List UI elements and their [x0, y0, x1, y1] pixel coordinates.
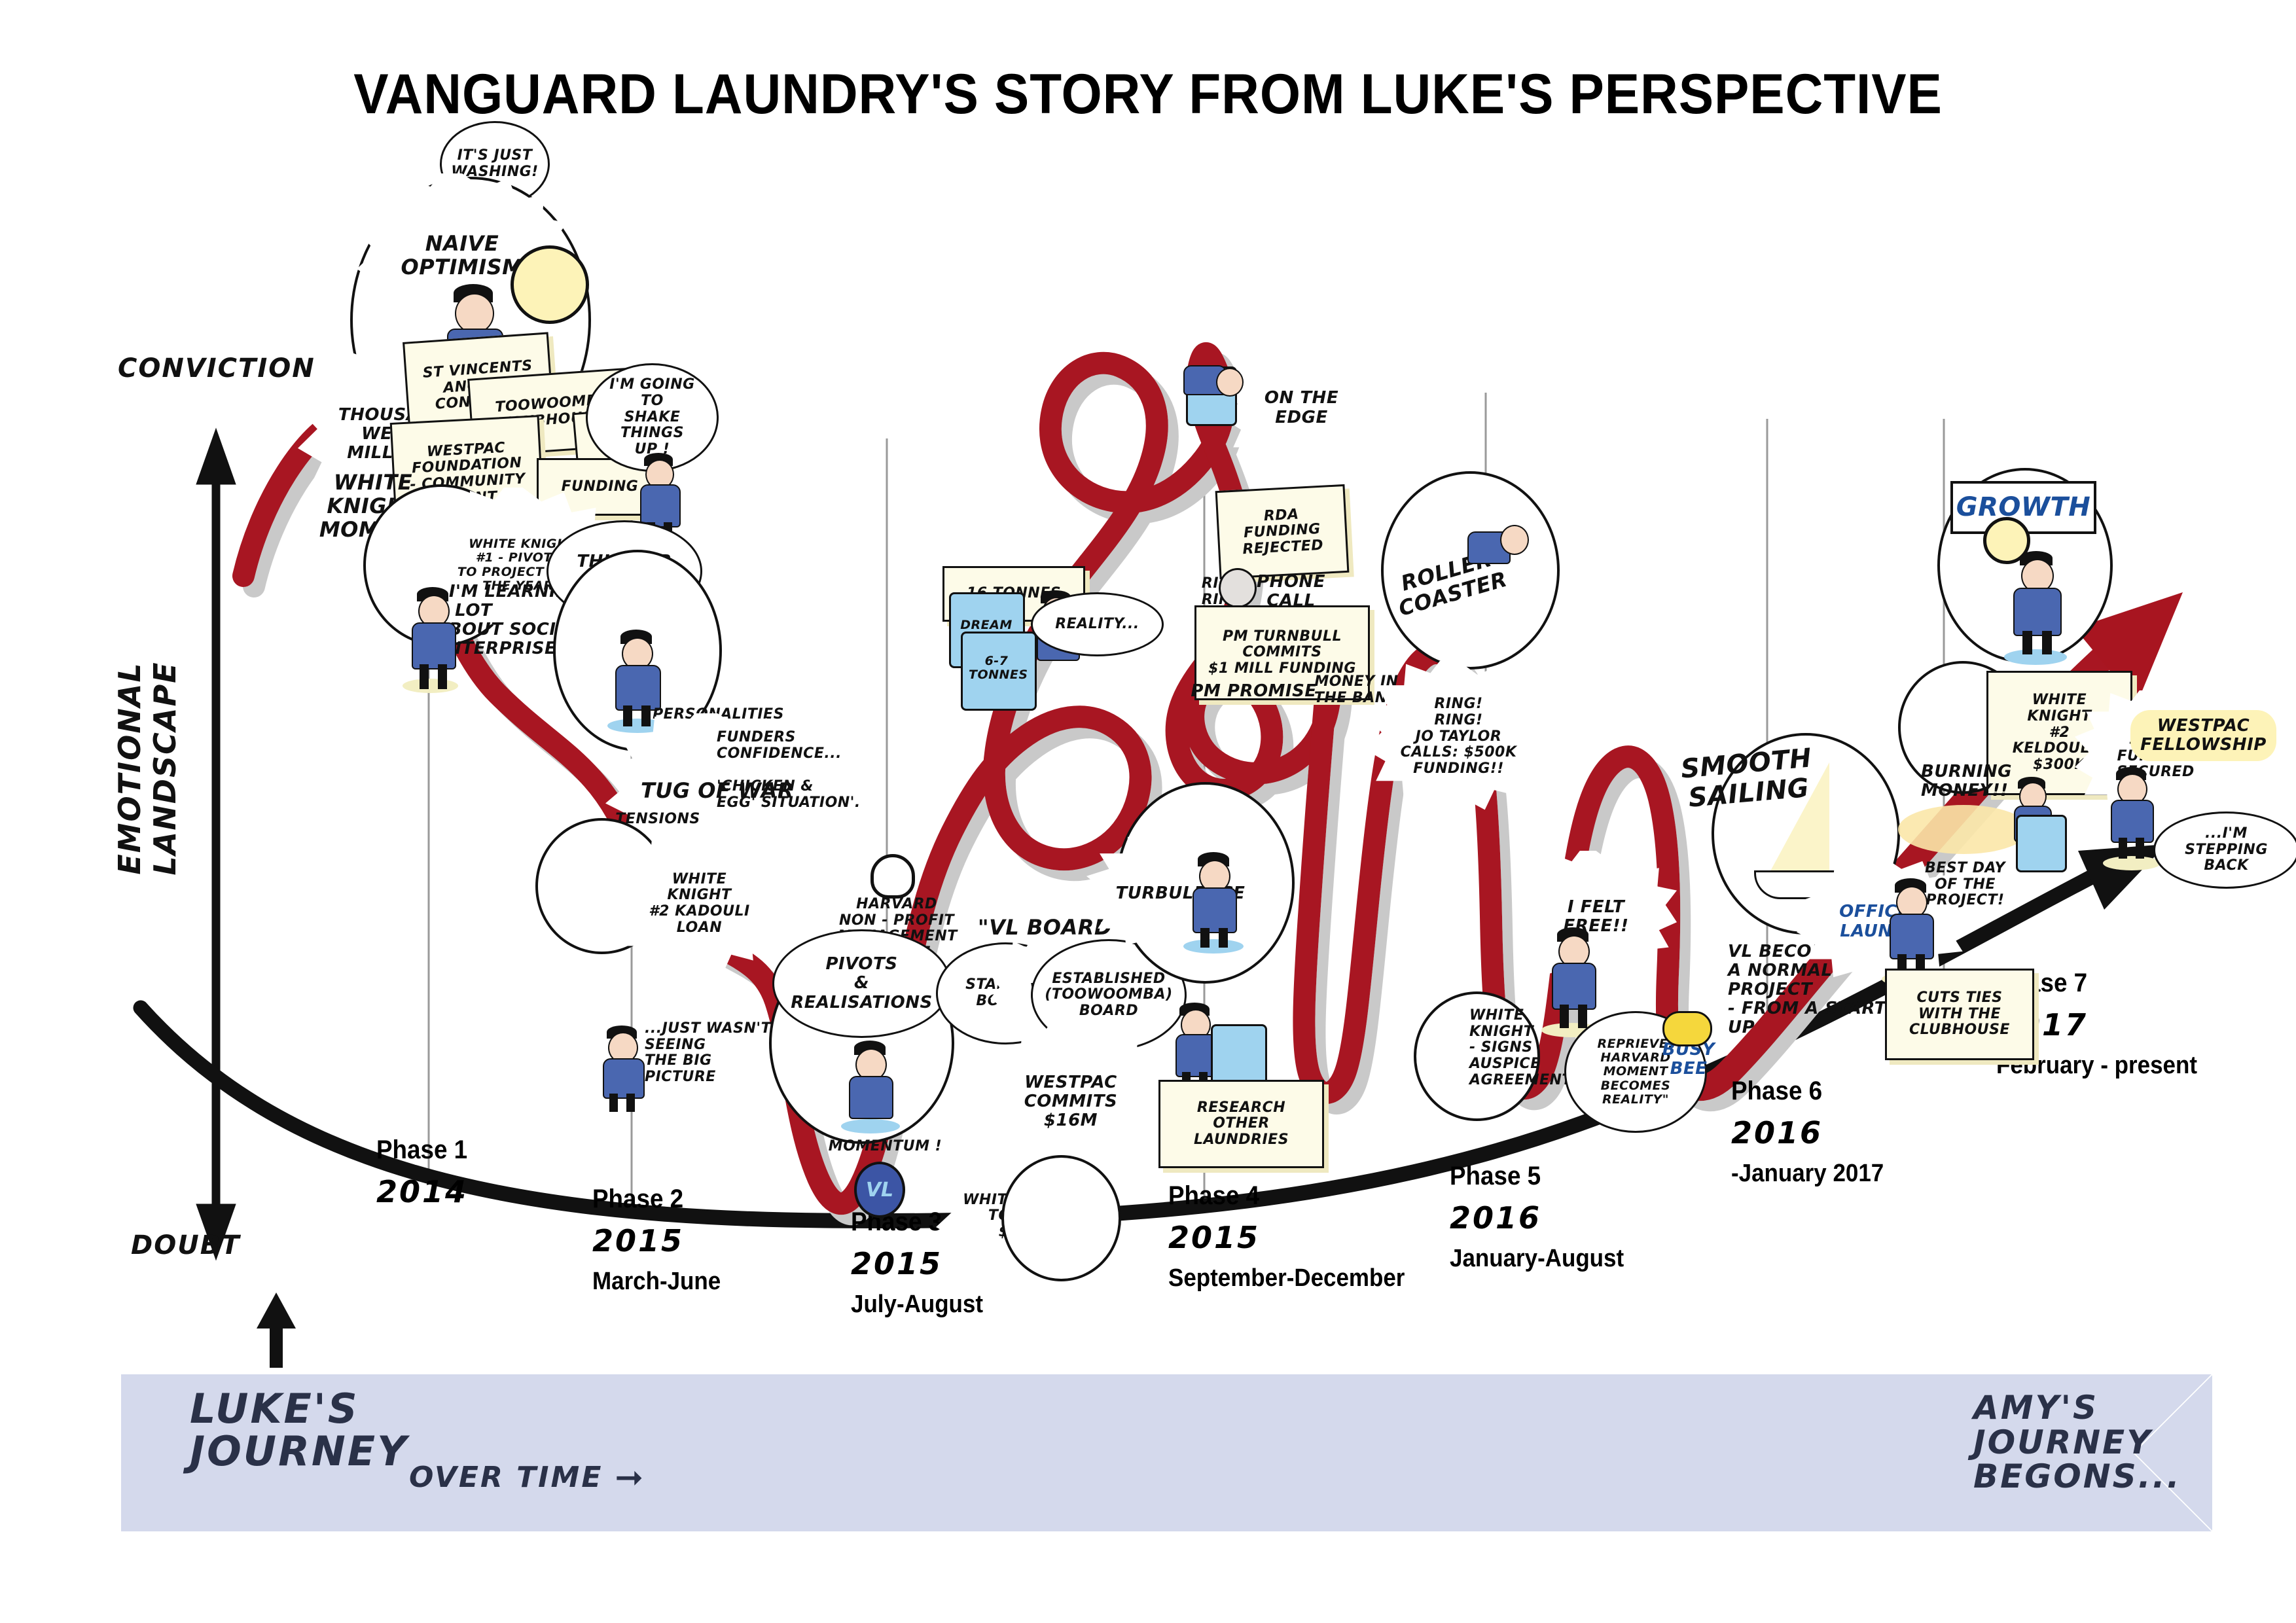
banner-luke-line2: JOURNEY	[190, 1430, 408, 1472]
axis-label-doubt: DOUBT	[131, 1230, 240, 1260]
washing-machine-burning-icon	[2016, 815, 2067, 872]
page-title: VANGUARD LAUNDRY'S STORY FROM LUKE'S PER…	[81, 62, 2215, 127]
annotation-cuts-ties-clubhouse: CUTS TIESWITH THECLUBHOUSE	[1885, 969, 2034, 1060]
banner-luke-line1: LUKE'S	[190, 1387, 408, 1430]
annotation-funders-confidence: FUNDERSCONFIDENCE...	[717, 730, 854, 762]
vl-badge-icon: VL	[854, 1162, 905, 1218]
bee-icon	[1662, 1011, 1712, 1046]
banner-luke-journey: LUKE'S JOURNEY	[190, 1387, 408, 1472]
banner-over-time: OVER TIME ➞	[409, 1463, 645, 1493]
figure-luke-coaster	[1460, 517, 1541, 582]
journey-banner	[121, 1374, 2212, 1531]
annotation-stepping-back: ...I'M STEPPINGBACK	[2153, 811, 2296, 889]
banner-amy-line3: BEGONS...	[1973, 1459, 2181, 1494]
phase-label-5: Phase 5 2016 January-August	[1450, 1162, 1639, 1273]
figure-luke-slumped	[586, 1024, 658, 1122]
figure-luke-tumbling	[828, 1027, 913, 1132]
annotation-pivots-realisations: PIVOTS&REALISATIONS	[772, 929, 951, 1038]
figure-luke-growth	[1990, 550, 2081, 664]
pm-turnbull-head-icon	[1219, 568, 1257, 608]
annotation-research-laundries: RESEARCHOTHERLAUNDRIES	[1158, 1080, 1324, 1168]
phase-label-1: Phase 1 2014	[376, 1135, 475, 1209]
banner-amy-journey: AMY'S JOURNEY BEGONS...	[1973, 1391, 2181, 1494]
banner-over-time-label: OVER TIME	[409, 1463, 603, 1493]
annotation-pm-promise: PM PROMISE	[1190, 682, 1318, 701]
start-marker-arrow	[257, 1293, 296, 1368]
annotation-dream: DREAM	[960, 618, 1013, 632]
annotation-momentum: MOMENTUM !	[828, 1139, 942, 1155]
annotation-westpac-fellowship: WESTPACFELLOWSHIP	[2130, 710, 2276, 761]
phase-label-6: Phase 6 2016 -January 2017	[1731, 1077, 1897, 1188]
annotation-rda-rejected: RDAFUNDINGREJECTED	[1215, 484, 1350, 579]
annotation-six-seven-tonnes: 6-7TONNES	[969, 654, 1024, 683]
banner-amy-line2: JOURNEY	[1973, 1425, 2181, 1460]
axis-label-conviction: CONVICTION	[118, 353, 315, 383]
phase-label-4: Phase 4 2015 September-December	[1168, 1181, 1426, 1293]
figure-luke-on-edge	[1172, 353, 1244, 406]
figure-luke-juggling	[1172, 844, 1257, 952]
figure-luke-learning	[389, 586, 475, 694]
sailboat-sail-icon	[1767, 762, 1829, 877]
annotation-reality: REALITY...	[1031, 592, 1164, 656]
annotation-chicken-egg: 'CHICKEN &EGG' SITUATION'.	[717, 779, 861, 811]
right-arrow-icon: ➞	[615, 1468, 645, 1488]
sun-icon	[511, 245, 589, 324]
phase-label-2: Phase 2 2015 March-June	[592, 1185, 732, 1296]
sun-icon-growth	[1983, 517, 2030, 564]
scene-white-knight-500k	[1001, 1155, 1121, 1281]
axis-label-emotional-landscape: EMOTIONAL LANDSCAPE	[112, 565, 183, 971]
banner-amy-line1: AMY'S	[1973, 1391, 2181, 1425]
y-axis-arrow	[196, 429, 236, 1260]
lightbulb-icon	[870, 854, 915, 899]
